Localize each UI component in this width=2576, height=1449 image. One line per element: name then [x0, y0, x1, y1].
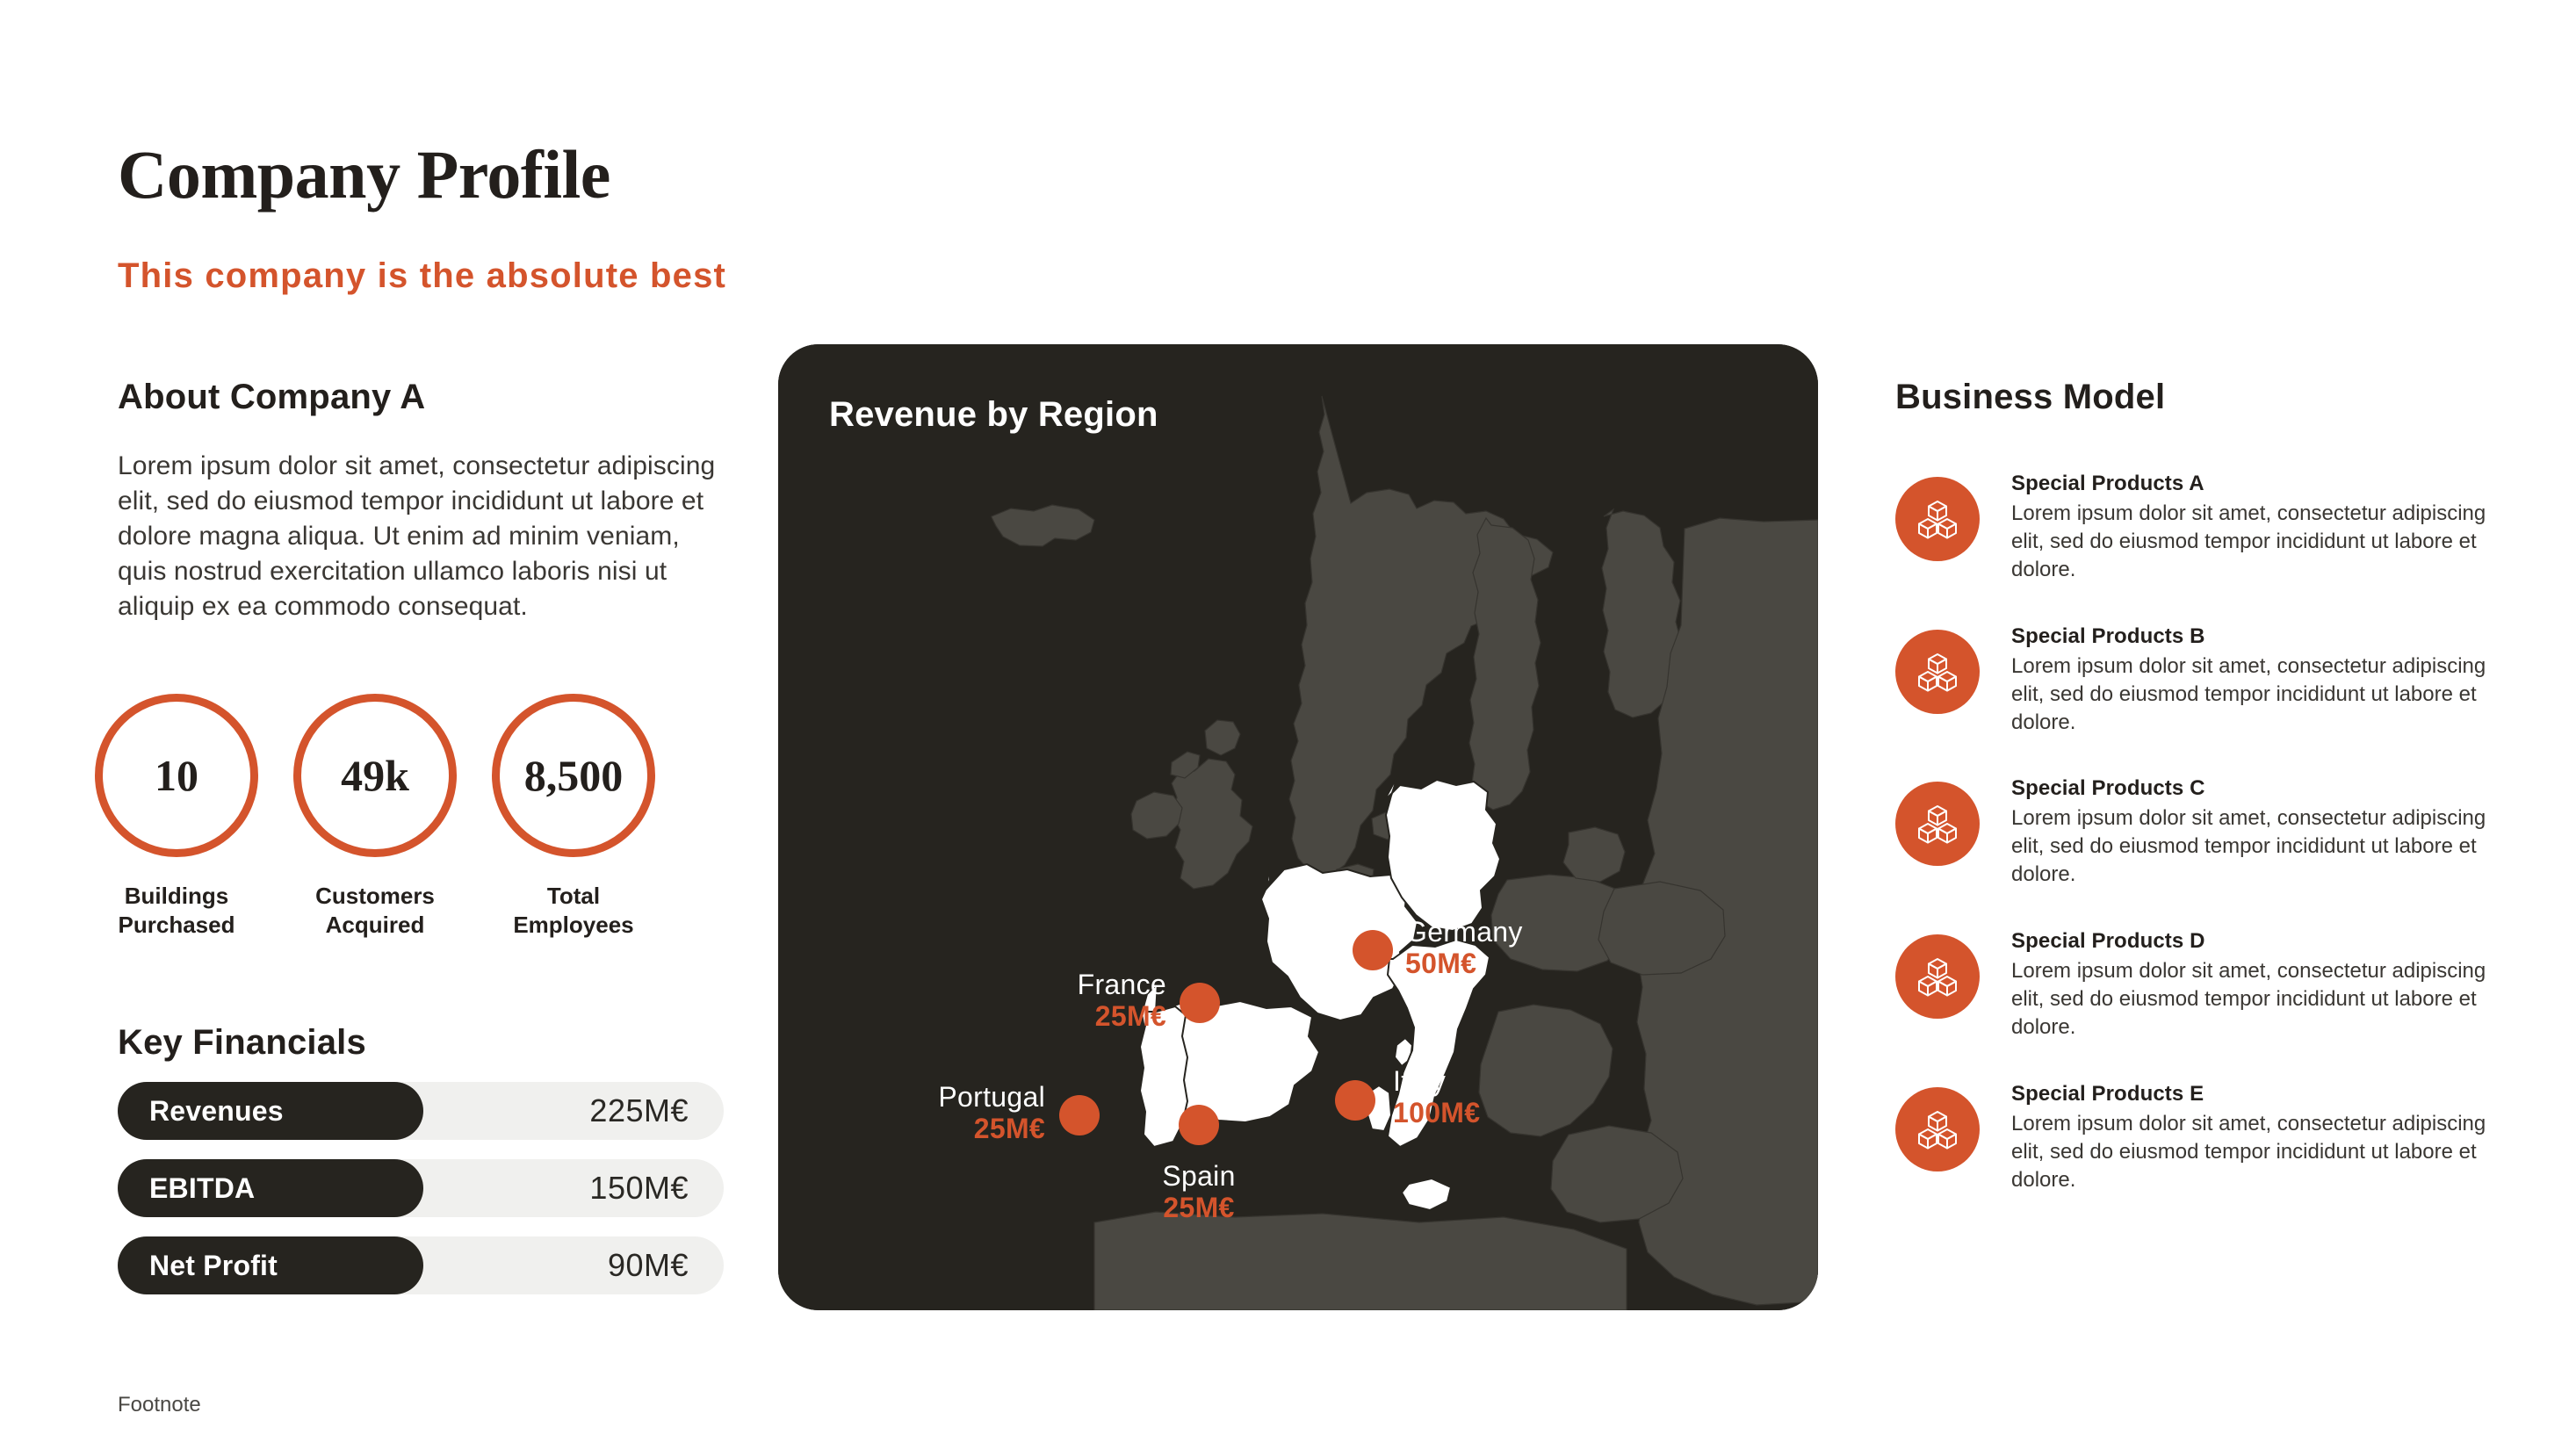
map-region-name: Portugal — [831, 1082, 1045, 1114]
business-model-text: Special Products A Lorem ipsum dolor sit… — [2011, 472, 2510, 584]
boxes-icon — [1895, 1087, 1980, 1171]
business-model-text: Special Products B Lorem ipsum dolor sit… — [2011, 624, 2510, 737]
map-region-value: 25M€ — [1129, 1193, 1268, 1224]
business-model-item[interactable]: Special Products D Lorem ipsum dolor sit… — [1895, 929, 2510, 1042]
business-model-heading: Business Model — [1895, 378, 2510, 417]
financial-label: EBITDA — [118, 1159, 423, 1217]
map-dot-germany[interactable] — [1353, 930, 1393, 970]
europe-map — [778, 344, 1818, 1310]
stat-customers-acquired: 49k CustomersAcquired — [293, 694, 457, 941]
boxes-icon — [1895, 477, 1980, 561]
map-dot-italy[interactable] — [1335, 1080, 1375, 1121]
boxes-icon — [1895, 782, 1980, 866]
map-dot-france[interactable] — [1180, 983, 1220, 1023]
map-region-name: Italy — [1393, 1066, 1480, 1098]
map-region-value: 50M€ — [1405, 948, 1523, 980]
business-model-body: Lorem ipsum dolor sit amet, consectetur … — [2011, 804, 2510, 889]
business-model-title: Special Products D — [2011, 929, 2510, 954]
stat-circle: 10 — [95, 694, 258, 857]
map-region-name: Spain — [1129, 1161, 1268, 1193]
business-model-item[interactable]: Special Products E Lorem ipsum dolor sit… — [1895, 1082, 2510, 1194]
map-label-portugal: Portugal 25M€ — [831, 1082, 1045, 1145]
business-model-list: Special Products A Lorem ipsum dolor sit… — [1895, 472, 2510, 1194]
business-model-title: Special Products A — [2011, 472, 2510, 496]
business-model-title: Special Products B — [2011, 624, 2510, 649]
financial-value: 150M€ — [589, 1170, 724, 1207]
stat-total-employees: 8,500 TotalEmployees — [492, 694, 655, 941]
financial-row-revenues: Revenues 225M€ — [118, 1082, 724, 1140]
boxes-icon — [1895, 934, 1980, 1019]
business-model-item[interactable]: Special Products A Lorem ipsum dolor sit… — [1895, 472, 2510, 584]
stat-circle: 49k — [293, 694, 457, 857]
business-model-body: Lorem ipsum dolor sit amet, consectetur … — [2011, 500, 2510, 584]
business-model-item[interactable]: Special Products C Lorem ipsum dolor sit… — [1895, 776, 2510, 889]
business-model-body: Lorem ipsum dolor sit amet, consectetur … — [2011, 957, 2510, 1042]
boxes-icon — [1895, 630, 1980, 714]
key-financials-section: Key Financials Revenues 225M€ EBITDA 150… — [118, 1023, 724, 1294]
financial-row-net-profit: Net Profit 90M€ — [118, 1236, 724, 1294]
business-model-item[interactable]: Special Products B Lorem ipsum dolor sit… — [1895, 624, 2510, 737]
map-region-value: 25M€ — [954, 1001, 1166, 1033]
stat-circle: 8,500 — [492, 694, 655, 857]
business-model-body: Lorem ipsum dolor sit amet, consectetur … — [2011, 652, 2510, 737]
map-region-value: 100M€ — [1393, 1098, 1480, 1129]
business-model-title: Special Products C — [2011, 776, 2510, 801]
map-label-italy: Italy 100M€ — [1393, 1066, 1480, 1129]
business-model-title: Special Products E — [2011, 1082, 2510, 1107]
stat-value: 8,500 — [524, 753, 624, 797]
about-body-text: Lorem ipsum dolor sit amet, consectetur … — [118, 449, 724, 624]
stat-label: TotalEmployees — [513, 882, 633, 941]
page-title: Company Profile — [118, 141, 610, 209]
revenue-by-region-panel: Revenue by Region — [778, 344, 1818, 1310]
map-panel-title: Revenue by Region — [829, 395, 1158, 435]
stat-value: 10 — [155, 753, 198, 797]
financial-value: 225M€ — [589, 1092, 724, 1129]
business-model-text: Special Products E Lorem ipsum dolor sit… — [2011, 1082, 2510, 1194]
financial-value: 90M€ — [608, 1247, 724, 1284]
map-region-name: France — [954, 970, 1166, 1001]
about-section: About Company A Lorem ipsum dolor sit am… — [118, 378, 724, 624]
business-model-body: Lorem ipsum dolor sit amet, consectetur … — [2011, 1110, 2510, 1194]
stat-label: CustomersAcquired — [315, 882, 435, 941]
map-dot-spain[interactable] — [1179, 1105, 1219, 1145]
business-model-text: Special Products C Lorem ipsum dolor sit… — [2011, 776, 2510, 889]
business-model-section: Business Model Special Products A Lorem … — [1895, 378, 2510, 1194]
business-model-text: Special Products D Lorem ipsum dolor sit… — [2011, 929, 2510, 1042]
stat-label: BuildingsPurchased — [119, 882, 235, 941]
map-label-spain: Spain 25M€ — [1129, 1161, 1268, 1224]
map-label-france: France 25M€ — [954, 970, 1166, 1033]
stat-buildings-purchased: 10 BuildingsPurchased — [95, 694, 258, 941]
financial-label: Revenues — [118, 1082, 423, 1140]
map-dot-portugal[interactable] — [1059, 1095, 1100, 1135]
key-financials-heading: Key Financials — [118, 1023, 724, 1063]
stats-row: 10 BuildingsPurchased 49k CustomersAcqui… — [95, 694, 745, 941]
map-region-value: 25M€ — [831, 1114, 1045, 1145]
footnote: Footnote — [118, 1393, 201, 1417]
financial-row-ebitda: EBITDA 150M€ — [118, 1159, 724, 1217]
financial-label: Net Profit — [118, 1236, 423, 1294]
page-subtitle: This company is the absolute best — [118, 256, 726, 296]
map-label-germany: Germany 50M€ — [1405, 917, 1523, 980]
map-region-name: Germany — [1405, 917, 1523, 948]
stat-value: 49k — [341, 753, 409, 797]
about-heading: About Company A — [118, 378, 724, 417]
